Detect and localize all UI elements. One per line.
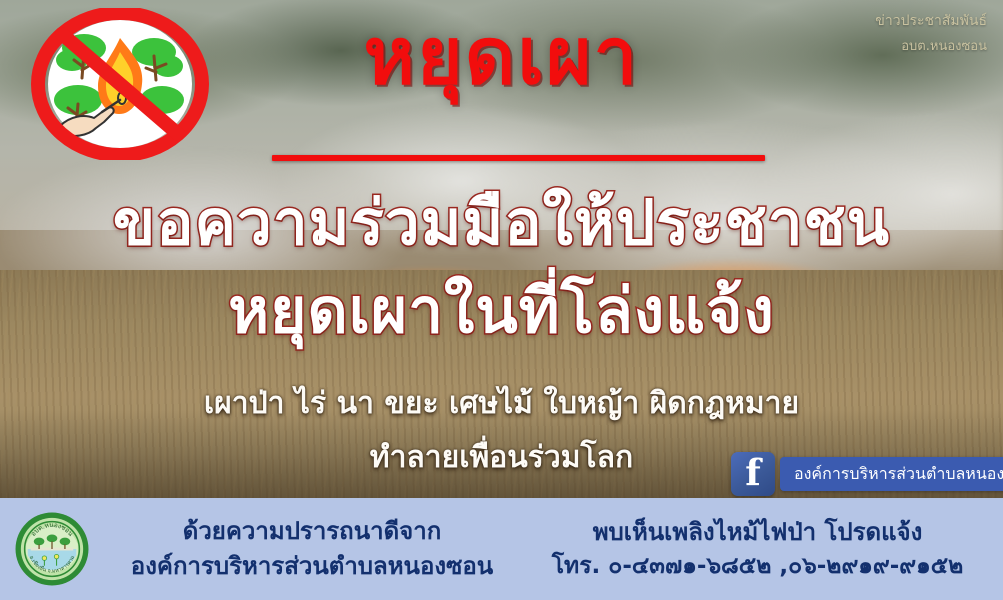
- footer-left-line-2: องค์การบริหารส่วนตำบลหนองซอน: [104, 549, 520, 584]
- footer-bar: อบต.หนองซอน อ.เชียงยืน จ.มหาสารคาม ด้วยค…: [0, 498, 1003, 600]
- footer-report-instruction: พบเห็นเพลิงไหม้ไฟป่า โปรดแจ้ง: [520, 515, 995, 550]
- footer-right-text: พบเห็นเพลิงไหม้ไฟป่า โปรดแจ้ง โทร. ๐-๔๓๗…: [520, 515, 1003, 583]
- organization-seal-logo: อบต.หนองซอน อ.เชียงยืน จ.มหาสารคาม: [14, 511, 90, 587]
- footer-left-line-1: ด้วยความปรารถนาดีจาก: [104, 514, 520, 549]
- page-title-headline: หยุดเผา: [0, 18, 1003, 96]
- headline-divider-rule: [272, 155, 765, 161]
- facebook-page-badge[interactable]: องค์การบริหารส่วนตำบลหนองซอน: [731, 452, 1003, 496]
- footer-phone-numbers: โทร. ๐-๔๓๗๑-๖๘๕๒ ,๐๖-๒๙๑๙-๙๑๕๒: [520, 550, 995, 583]
- facebook-icon[interactable]: [731, 452, 775, 496]
- subline-illegal-burning: เผาป่า ไร่ นา ขยะ เศษไม้ ใบหญ้า ผิดกฎหมา…: [0, 386, 1003, 422]
- facebook-page-name[interactable]: องค์การบริหารส่วนตำบลหนองซอน: [780, 457, 1003, 491]
- slogan-line-1: ขอความร่วมมือให้ประชาชน: [0, 190, 1003, 255]
- slogan-line-2: หยุดเผาในที่โล่งแจ้ง: [0, 278, 1003, 343]
- poster-root: ข่าวประชาสัมพันธ์ อบต.หนองซอน หยุดเผา ขอ…: [0, 0, 1003, 600]
- footer-left-group: อบต.หนองซอน อ.เชียงยืน จ.มหาสารคาม ด้วยค…: [0, 511, 520, 587]
- footer-left-text: ด้วยความปรารถนาดีจาก องค์การบริหารส่วนตำ…: [104, 514, 520, 584]
